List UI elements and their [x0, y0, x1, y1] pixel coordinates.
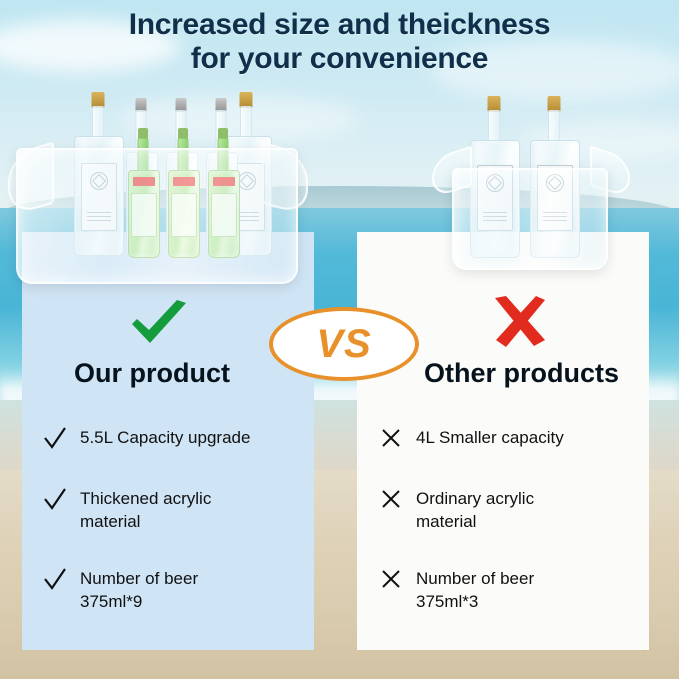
- check-icon: [44, 487, 66, 511]
- our-feature-1-text: 5.5L Capacity upgrade: [80, 426, 250, 449]
- other-feature-2: Ordinary acrylic material: [380, 487, 630, 533]
- other-feature-3-text: Number of beer 375ml*3: [416, 567, 534, 613]
- our-ice-bucket: [16, 148, 298, 284]
- check-icon: [44, 567, 66, 591]
- other-product-cross-icon: [492, 296, 548, 348]
- our-feature-3-text: Number of beer 375ml*9: [80, 567, 198, 613]
- comparison-infographic: Increased size and theickness for your c…: [0, 0, 679, 679]
- our-feature-2-text: Thickened acrylic material: [80, 487, 211, 533]
- our-feature-1: 5.5L Capacity upgrade: [44, 426, 294, 450]
- other-feature-3: Number of beer 375ml*3: [380, 567, 630, 613]
- other-feature-1-text: 4L Smaller capacity: [416, 426, 564, 449]
- our-product-title: Our product: [74, 358, 230, 389]
- vs-badge: VS: [269, 307, 419, 381]
- headline-line-2: for your convenience: [0, 42, 679, 76]
- other-feature-2-text: Ordinary acrylic material: [416, 487, 534, 533]
- vs-badge-label: VS: [316, 322, 371, 367]
- cross-icon: [380, 487, 402, 511]
- cross-icon: [380, 426, 402, 450]
- other-feature-1: 4L Smaller capacity: [380, 426, 630, 450]
- our-feature-3: Number of beer 375ml*9: [44, 567, 294, 613]
- headline: Increased size and theickness for your c…: [0, 8, 679, 76]
- check-icon: [44, 426, 66, 450]
- cross-icon: [380, 567, 402, 591]
- other-ice-bucket: [452, 168, 608, 270]
- our-feature-2: Thickened acrylic material: [44, 487, 294, 533]
- our-product-check-icon: [128, 300, 190, 348]
- other-products-title: Other products: [424, 358, 619, 389]
- headline-line-1: Increased size and theickness: [0, 8, 679, 42]
